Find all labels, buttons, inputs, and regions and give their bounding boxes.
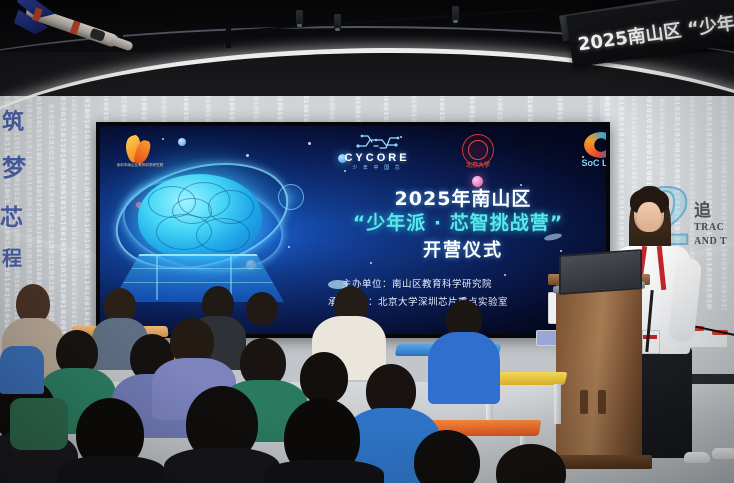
phoenix-logo-caption: 深圳市南山区教育科学研究院	[116, 164, 164, 168]
pku-logo-caption: 北京大学	[459, 160, 497, 169]
ceiling-spotlight	[334, 14, 341, 29]
audience-body	[428, 332, 500, 404]
soc-lab-logo: SoC Lab.	[570, 132, 606, 172]
presenter-shoe	[684, 452, 710, 463]
pku-seal-inner	[468, 140, 488, 160]
presenter-face	[637, 202, 661, 232]
audience-body	[10, 398, 68, 450]
audience-body-front	[264, 460, 384, 483]
wooden-podium	[556, 281, 642, 467]
photo-scene: 0101001010110100101001011010010100101101…	[0, 0, 734, 483]
desk-leg	[554, 384, 561, 424]
soc-swirl-icon	[584, 132, 606, 158]
slide-title-line2: “少年派 · 芯智挑战营”	[298, 208, 606, 235]
cycore-logo-text: CYCORE	[328, 152, 426, 164]
audience-head	[246, 292, 278, 326]
circuit-icon	[352, 132, 402, 152]
slide-logo-row: 深圳市南山区教育科学研究院 CYCORE	[100, 130, 606, 170]
phoenix-logo: 深圳市南山区教育科学研究院	[122, 136, 156, 166]
podium-slot	[598, 390, 606, 414]
audience-body	[0, 346, 44, 394]
soc-lab-logo-text: SoC Lab.	[570, 158, 606, 168]
audience-body-front	[164, 448, 280, 483]
wall-character: 程	[2, 242, 22, 271]
ceiling-cable	[226, 26, 231, 48]
presenter-badge-stripe	[643, 335, 657, 339]
cycore-logo-subtext: 少 年 中 国 芯	[328, 164, 426, 171]
rocket-nose	[110, 36, 134, 52]
audience-head	[300, 352, 348, 404]
laptop-screen	[559, 249, 642, 295]
ceiling-spotlight	[296, 10, 303, 25]
audience-body-front	[58, 456, 166, 483]
podium-slot	[580, 390, 588, 414]
presenter-shoe	[712, 448, 734, 459]
ceiling-spotlight	[452, 6, 459, 21]
slide-title-line1: 2025年南山区	[318, 184, 606, 211]
pku-seal-logo: 北京大学	[462, 134, 496, 170]
brain-shape	[138, 174, 262, 260]
cycore-logo: CYCORE 少 年 中 国 芯	[328, 132, 426, 172]
